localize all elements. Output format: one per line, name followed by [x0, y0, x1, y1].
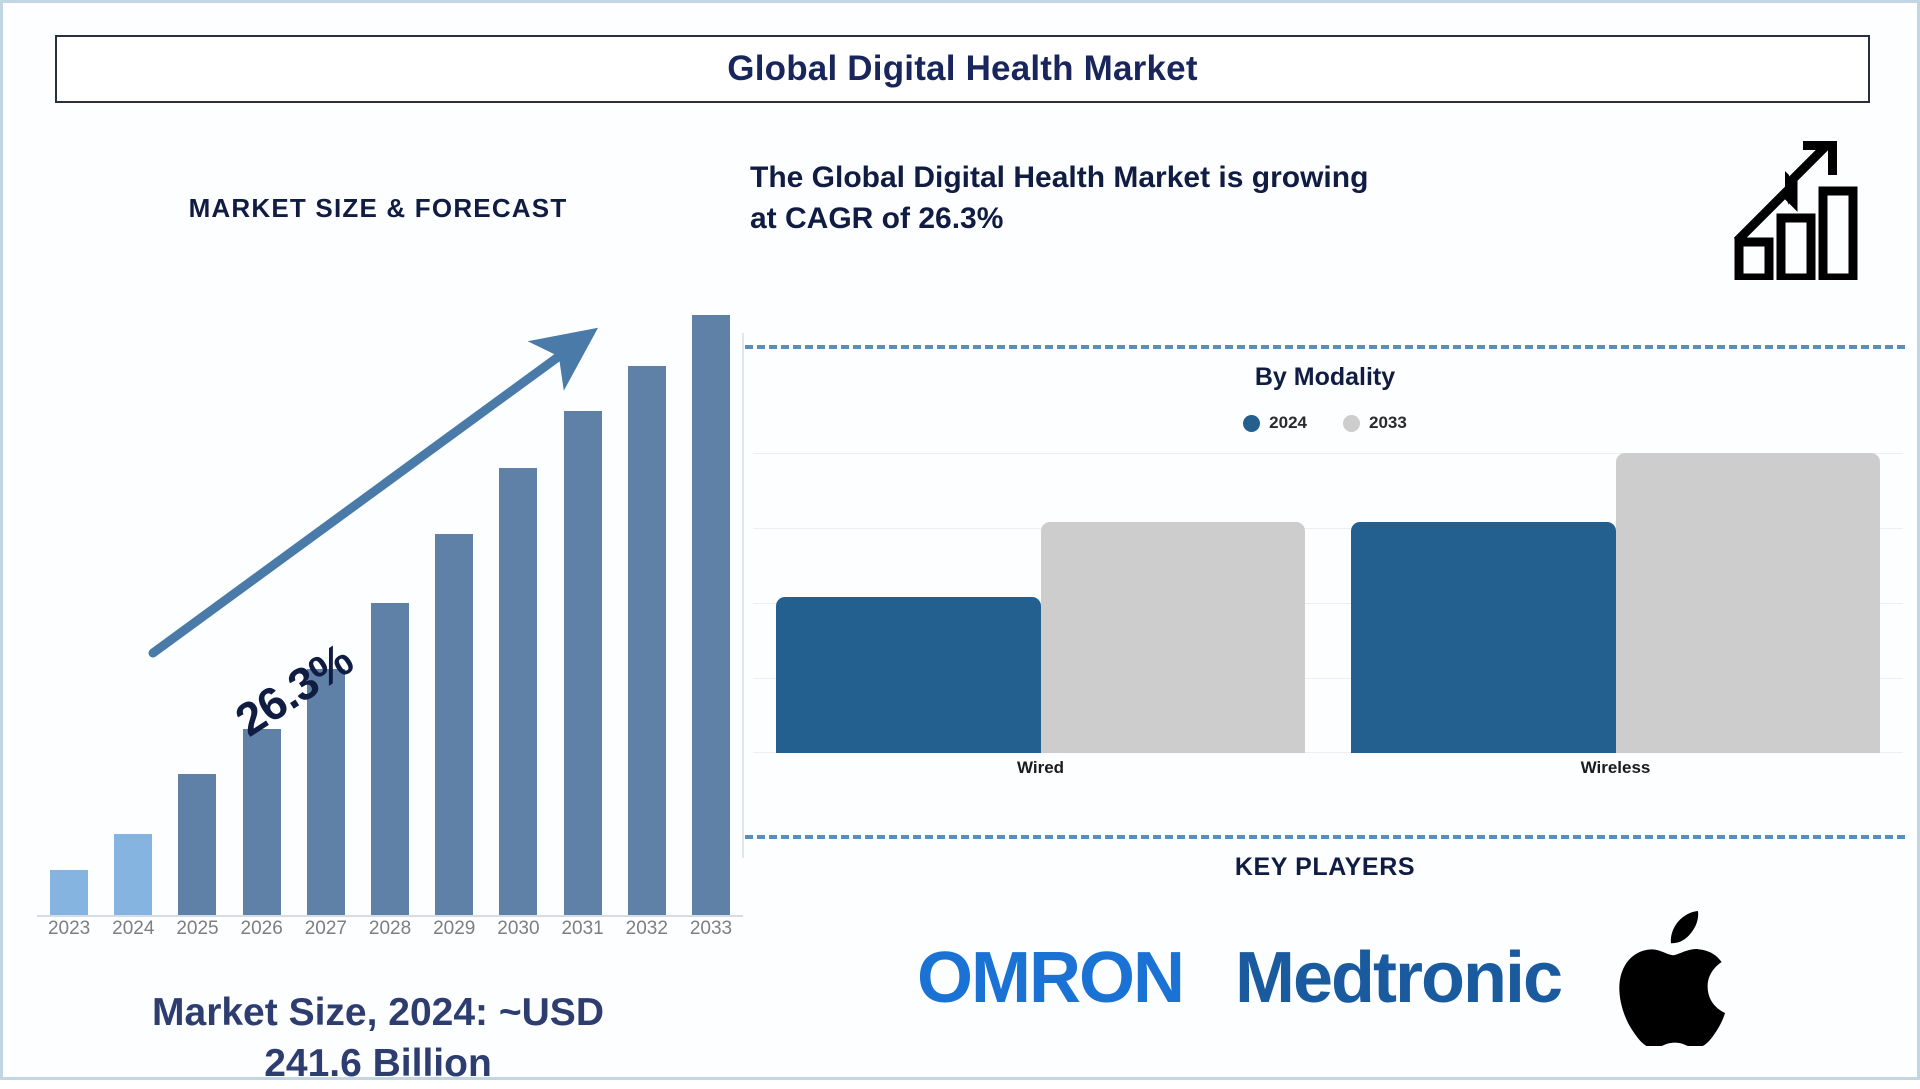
market-size-forecast-chart: 2023202420252026202720282029203020312032… [27, 313, 743, 948]
market-size-bar-column [422, 315, 486, 915]
legend-dot-icon [1343, 415, 1360, 432]
market-size-heading: MARKET SIZE & FORECAST [13, 193, 743, 224]
market-size-bar [499, 468, 537, 915]
market-size-year-labels: 2023202420252026202720282029203020312032… [37, 918, 743, 948]
market-size-bar [243, 729, 281, 915]
market-size-bar [178, 774, 216, 915]
market-size-year-label: 2028 [358, 918, 422, 948]
insights-panel: The Global Digital Health Market is grow… [745, 113, 1915, 1078]
apple-logo [1613, 911, 1733, 1046]
market-size-year-label: 2025 [165, 918, 229, 948]
modality-bar-group [1351, 453, 1880, 753]
market-size-axis-line [37, 915, 743, 917]
legend-label: 2024 [1269, 413, 1307, 433]
market-size-year-label: 2033 [679, 918, 743, 948]
modality-axis-labels: WiredWireless [753, 758, 1903, 778]
legend-item[interactable]: 2024 [1243, 413, 1307, 433]
panel-divider [742, 333, 744, 858]
market-size-year-label: 2027 [294, 918, 358, 948]
modality-legend: 20242033 [745, 413, 1905, 433]
modality-bar-2033 [1041, 522, 1306, 753]
market-size-bars [37, 315, 743, 915]
market-size-bar [114, 834, 152, 915]
market-size-bar-column [358, 315, 422, 915]
separator-top [745, 345, 1905, 349]
cagr-statement-line1: The Global Digital Health Market is grow… [750, 161, 1368, 194]
market-size-year-label: 2029 [422, 918, 486, 948]
market-size-bar-column [37, 315, 101, 915]
market-size-bar [628, 366, 666, 915]
market-size-panel: MARKET SIZE & FORECAST 20232024202520262… [13, 113, 743, 1073]
market-size-year-label: 2026 [230, 918, 294, 948]
modality-bar-2024 [776, 597, 1041, 753]
market-size-year-label: 2023 [37, 918, 101, 948]
modality-bar-2033 [1616, 453, 1881, 753]
modality-bar-group [776, 453, 1305, 753]
market-size-bar-column [679, 315, 743, 915]
medtronic-logo: Medtronic [1235, 942, 1561, 1014]
market-size-bar [692, 315, 730, 915]
market-size-bar-column [486, 315, 550, 915]
market-size-bar-column [165, 315, 229, 915]
modality-section-title: By Modality [745, 363, 1905, 392]
page-title: Global Digital Health Market [727, 49, 1197, 89]
market-size-year-label: 2031 [551, 918, 615, 948]
omron-logo: OMRON [917, 942, 1183, 1014]
market-size-bar [50, 870, 88, 915]
market-size-bar-column [230, 315, 294, 915]
market-size-bar [564, 411, 602, 915]
market-size-year-label: 2032 [615, 918, 679, 948]
market-size-bar-column [551, 315, 615, 915]
infographic-page: Global Digital Health Market MARKET SIZE… [0, 0, 1920, 1080]
key-players-title: KEY PLAYERS [745, 853, 1905, 882]
modality-bars [753, 453, 1903, 753]
modality-axis-label: Wired [776, 758, 1305, 778]
legend-item[interactable]: 2033 [1343, 413, 1407, 433]
legend-dot-icon [1243, 415, 1260, 432]
key-players-logos: OMRON Medtronic [745, 903, 1905, 1053]
market-size-year-label: 2024 [101, 918, 165, 948]
legend-label: 2033 [1369, 413, 1407, 433]
cagr-statement-line2: at CAGR of 26.3% [750, 202, 1003, 235]
modality-chart: WiredWireless [753, 453, 1903, 783]
market-size-bar-column [101, 315, 165, 915]
market-size-footer-line2: 241.6 Billion [264, 1042, 492, 1085]
growth-arrow-bars-icon [1733, 135, 1873, 280]
market-size-bar-column [294, 315, 358, 915]
market-size-footer-line1: Market Size, 2024: ~USD [152, 991, 604, 1034]
market-size-year-label: 2030 [486, 918, 550, 948]
market-size-bar-column [615, 315, 679, 915]
separator-bottom [745, 835, 1905, 839]
modality-bar-2024 [1351, 522, 1616, 753]
modality-axis-label: Wireless [1351, 758, 1880, 778]
report-title-box: Global Digital Health Market [55, 35, 1870, 103]
market-size-bar [371, 603, 409, 915]
market-size-footer: Market Size, 2024: ~USD 241.6 Billion [13, 988, 743, 1089]
market-size-bar [435, 534, 473, 915]
cagr-statement: The Global Digital Health Market is grow… [750, 158, 1700, 240]
